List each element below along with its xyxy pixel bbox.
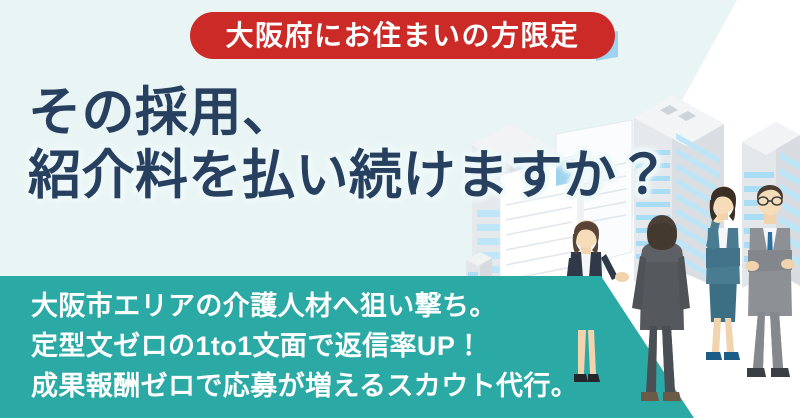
subcopy-line-1: 大阪市エリアの介護人材へ狙い撃ち。: [31, 287, 631, 327]
headline-line-2: 紹介料を払い続けますか？: [28, 145, 748, 208]
subcopy: 大阪市エリアの介護人材へ狙い撃ち。 定型文ゼロの1to1文面で返信率UP！ 成果…: [31, 287, 631, 407]
recruiting-banner: 大阪府にお住まいの方限定 その採用、 紹介料を払い続けますか？ 大阪市エリアの介…: [0, 0, 800, 418]
headline-line-1: その採用、: [28, 82, 748, 145]
subcopy-line-3: 成果報酬ゼロで応募が増えるスカウト代行。: [31, 367, 631, 407]
eligibility-badge-label: 大阪府にお住まいの方限定: [225, 22, 579, 50]
headline: その採用、 紹介料を払い続けますか？: [28, 82, 748, 207]
subcopy-line-2: 定型文ゼロの1to1文面で返信率UP！: [31, 327, 631, 367]
eligibility-badge: 大阪府にお住まいの方限定: [190, 12, 615, 59]
